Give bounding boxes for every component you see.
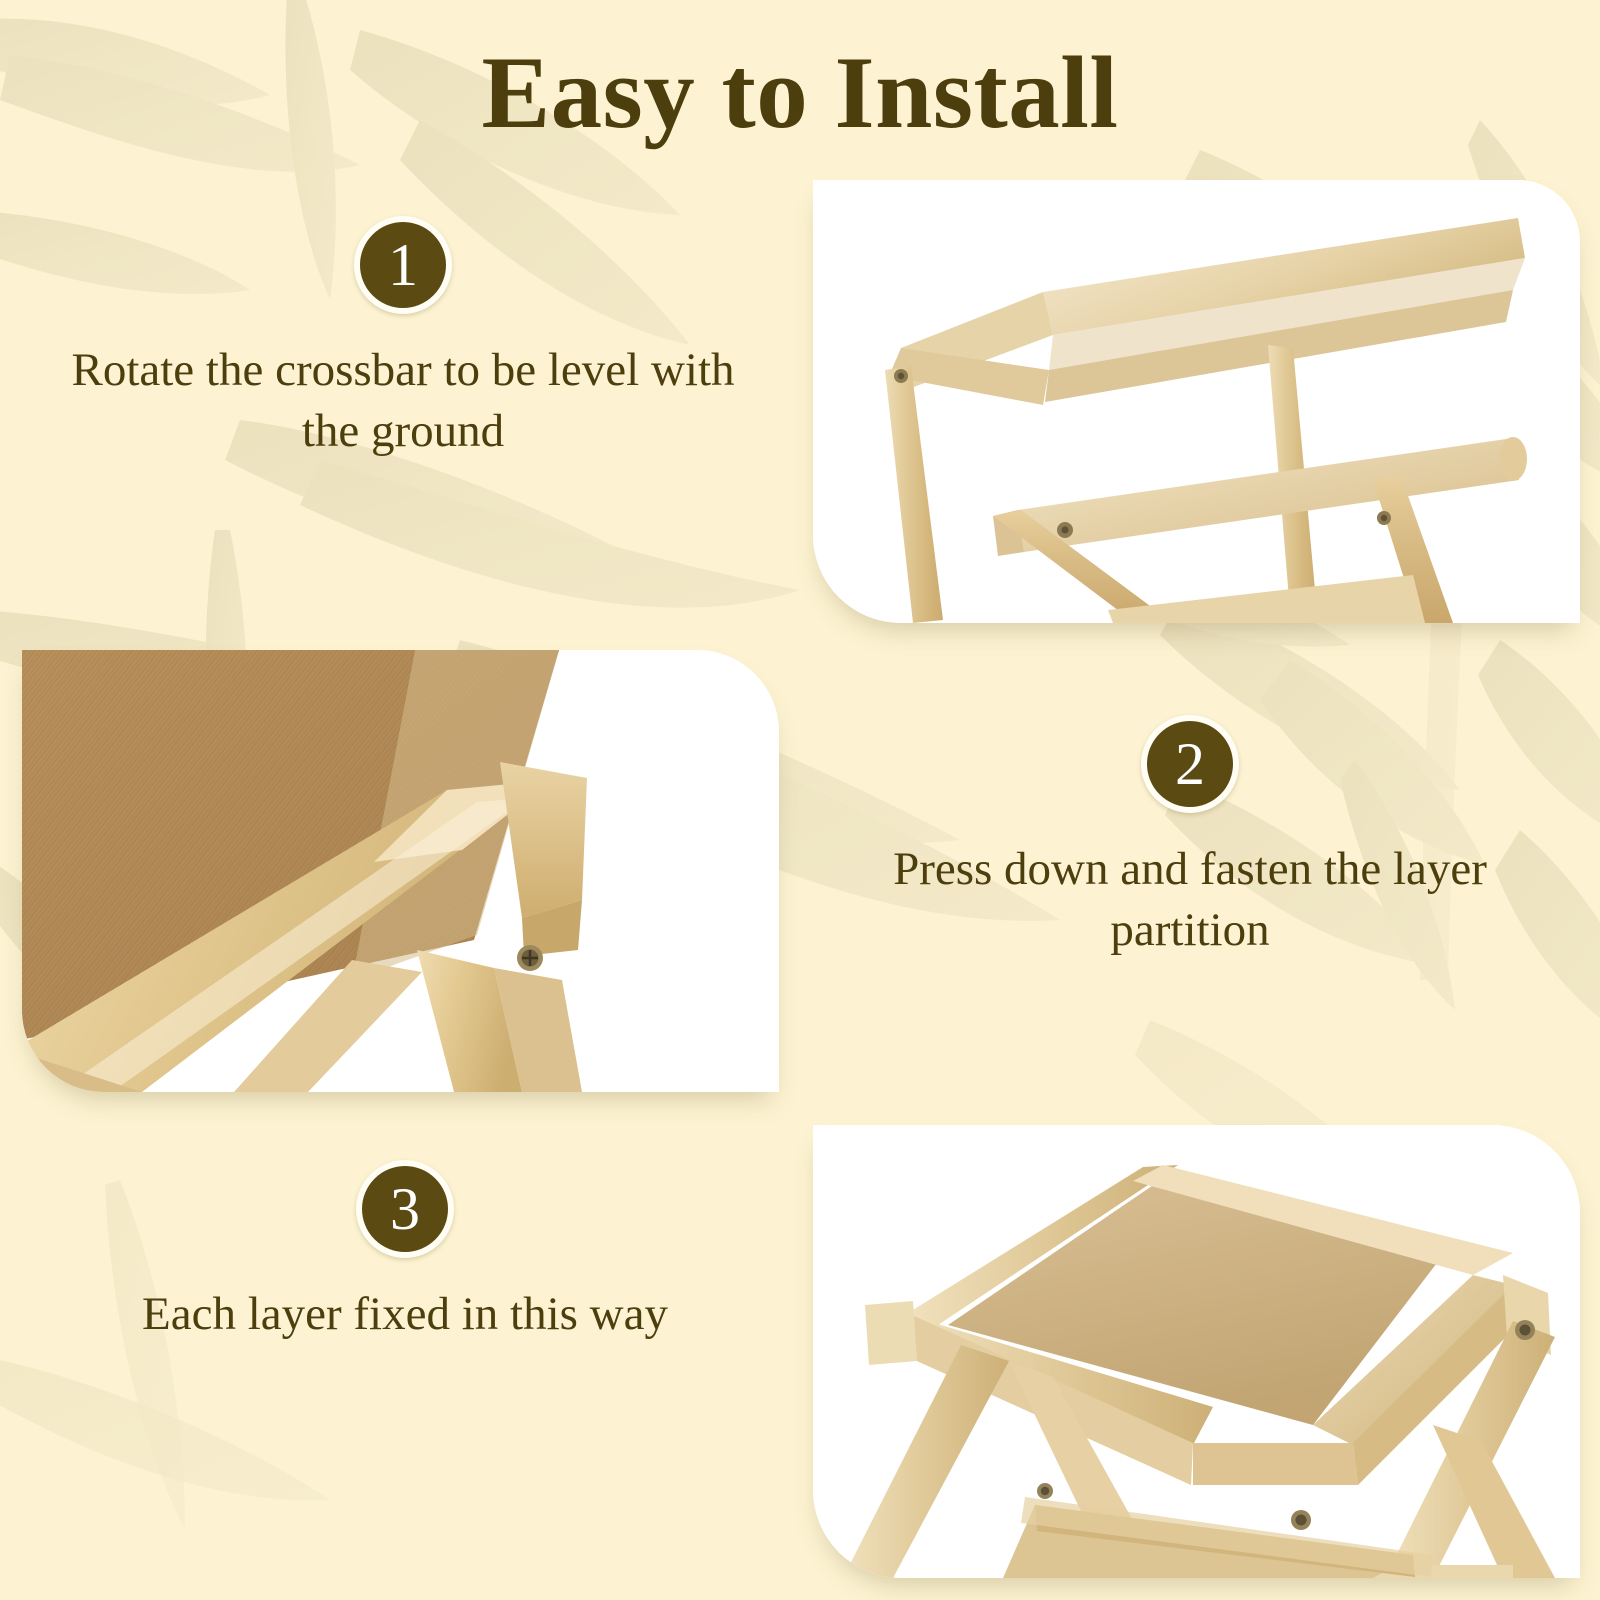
- step-2-number-badge: 2: [1141, 715, 1239, 813]
- step-3: 3 Each layer fixed in this way: [80, 1160, 730, 1345]
- infographic-canvas: Easy to Install 1 Rotate the crossbar to…: [0, 0, 1600, 1600]
- step-1-photo-panel: [813, 180, 1580, 623]
- step-3-description: Each layer fixed in this way: [80, 1284, 730, 1345]
- page-title: Easy to Install: [0, 34, 1600, 152]
- step-3-photo-panel: [813, 1125, 1580, 1578]
- step-2-description: Press down and fasten the layer partitio…: [840, 839, 1540, 961]
- step-1-product-photo: [813, 180, 1580, 623]
- step-1-description: Rotate the crossbar to be level with the…: [68, 340, 738, 462]
- step-1: 1 Rotate the crossbar to be level with t…: [68, 216, 738, 462]
- step-2-photo-panel: [22, 650, 779, 1092]
- step-3-number-badge: 3: [356, 1160, 454, 1258]
- step-2: 2 Press down and fasten the layer partit…: [840, 715, 1540, 961]
- step-2-product-photo: [22, 650, 779, 1092]
- step-3-product-photo: [813, 1125, 1580, 1578]
- step-1-number-badge: 1: [354, 216, 452, 314]
